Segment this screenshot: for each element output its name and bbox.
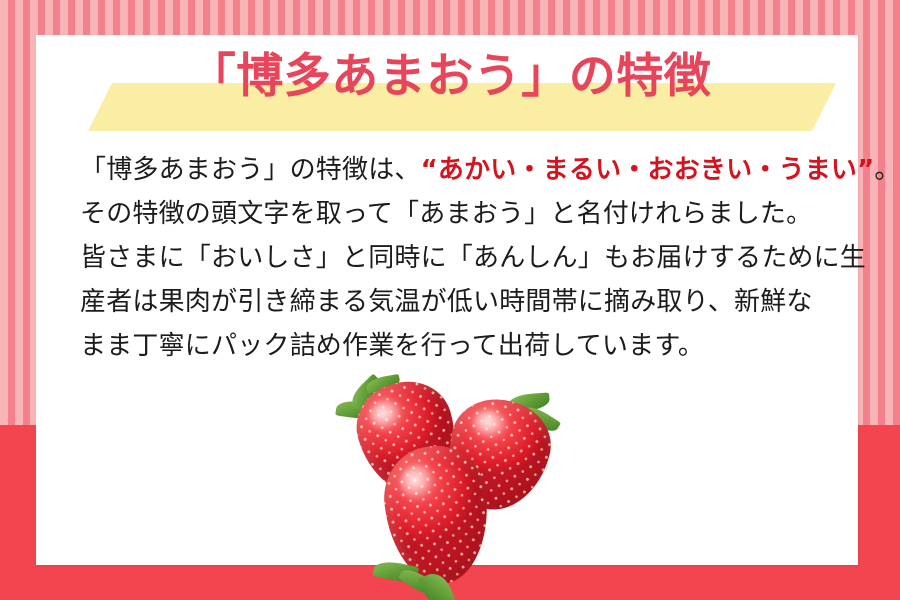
body-line-1-segment-3: 。 [874, 155, 900, 185]
infographic-canvas: 「博多あまおう」の特徴 「博多あまおう」の特徴は、“あかい・まるい・おおきい・う… [0, 0, 900, 600]
body-line-1: 「博多あまおう」の特徴は、“あかい・まるい・おおきい・うまい”。 [80, 148, 840, 192]
body-paragraph: 「博多あまおう」の特徴は、“あかい・まるい・おおきい・うまい”。 その特徴の頭文… [80, 148, 840, 368]
strawberry-photo [352, 378, 582, 593]
page-title: 「博多あまおう」の特徴 [0, 52, 900, 102]
body-line-5: まま丁寧にパック詰め作業を行って出荷しています。 [80, 324, 840, 368]
body-line-1-accent: “あかい・まるい・おおきい・うまい” [421, 155, 875, 185]
body-line-3: 皆さまに「おいしさ」と同時に「あんしん」もお届けするために生 [80, 236, 840, 280]
strawberry-front [379, 441, 495, 589]
body-line-1-segment-1: 「博多あまおう」の特徴は、 [80, 155, 421, 185]
body-line-4: 産者は果肉が引き締まる気温が低い時間帯に摘み取り、新鮮な [80, 280, 840, 324]
body-line-2: その特徴の頭文字を取って「あまおう」と名付けれらました。 [80, 192, 840, 236]
